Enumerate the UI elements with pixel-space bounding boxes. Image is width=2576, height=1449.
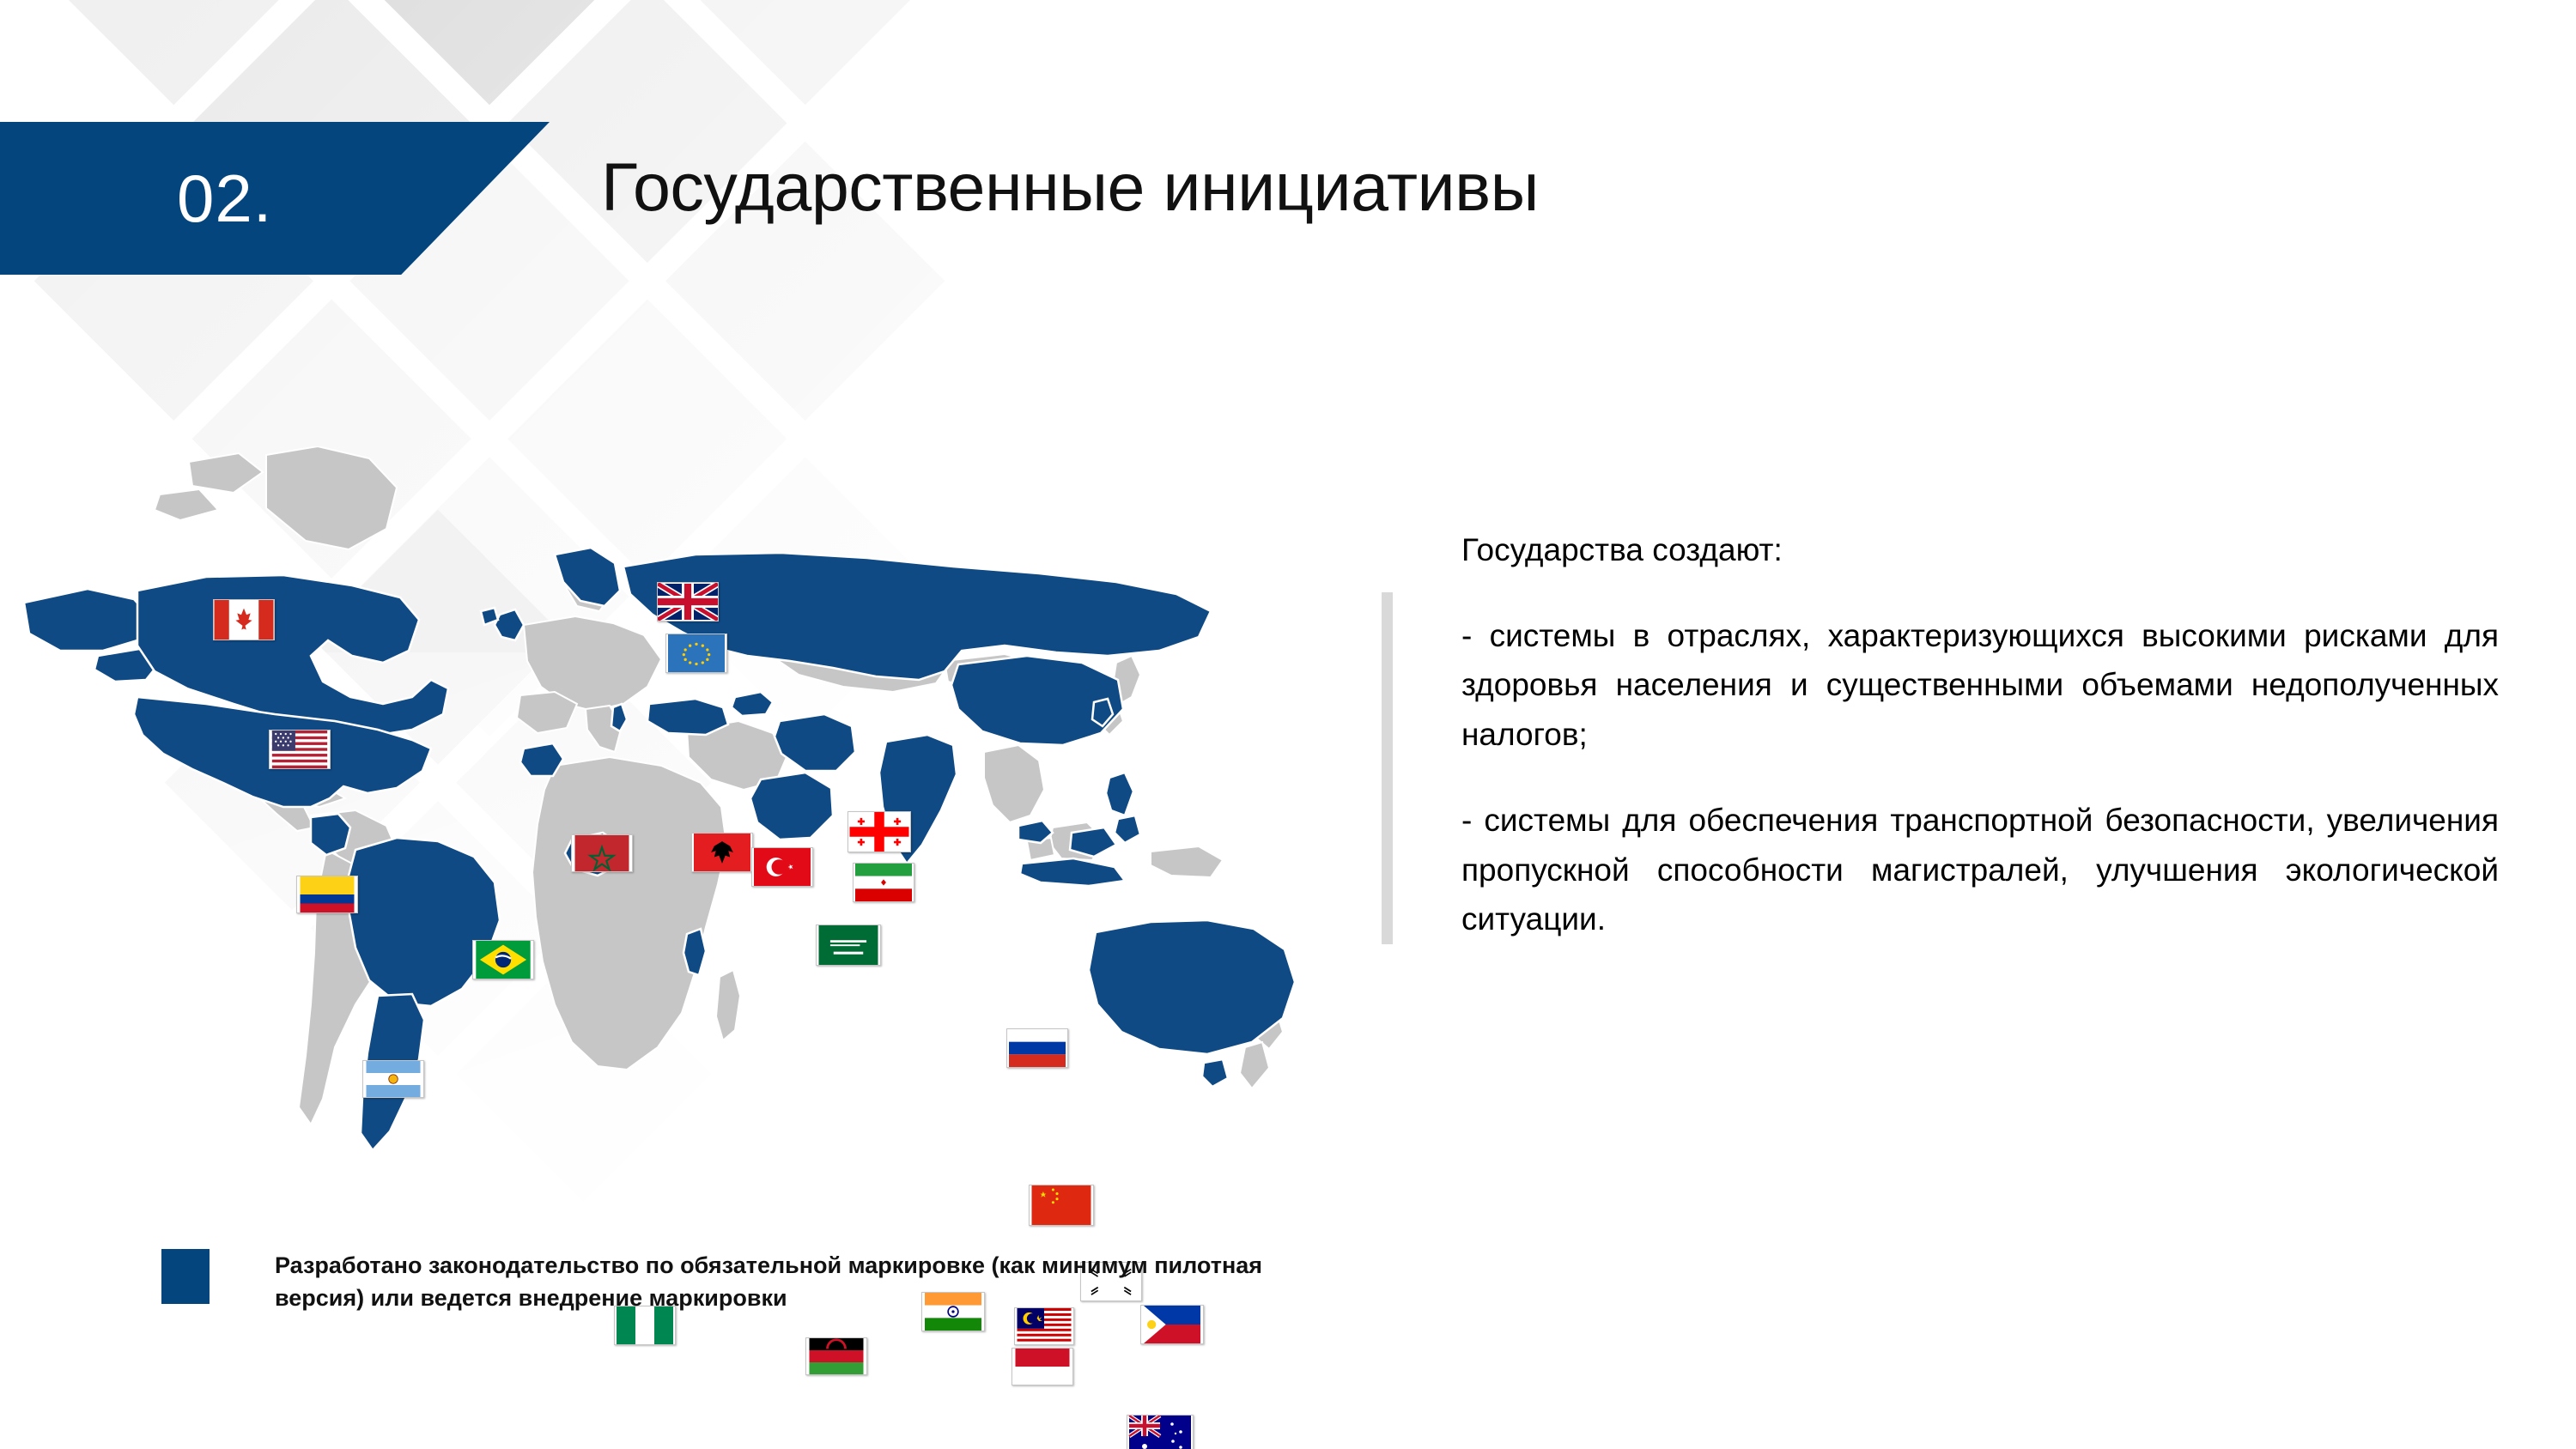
- page-title: Государственные инициативы: [601, 148, 1539, 227]
- section-number-banner: 02.: [0, 122, 550, 275]
- flag-canada-icon: [213, 599, 275, 640]
- flag-iran-icon: [853, 863, 914, 902]
- map-legend: Разработано законодательство по обязател…: [161, 1249, 1340, 1315]
- slide-root: 02. Государственные инициативы: [0, 0, 2576, 1449]
- flag-argentina-icon: [362, 1060, 424, 1098]
- flag-uk-icon: [657, 582, 719, 621]
- flag-turkey-icon: [751, 847, 813, 887]
- flag-australia-icon: [1127, 1415, 1194, 1449]
- body-intro: Государства создают:: [1461, 525, 2499, 575]
- flag-brazil-icon: [472, 940, 534, 979]
- body-bullet-2: - системы для обеспечения транспортной б…: [1461, 796, 2499, 944]
- flag-saudi-arabia-icon: [816, 925, 881, 966]
- body-text-column: Государства создают: - системы в отрасля…: [1461, 525, 2499, 944]
- flag-china-icon: [1029, 1185, 1094, 1226]
- flag-russia-icon: [1006, 1028, 1068, 1068]
- world-map-svg: [9, 446, 1391, 1202]
- flag-eu-icon: [665, 634, 727, 673]
- flag-indonesia-icon: [1012, 1348, 1073, 1385]
- flag-usa-icon: [269, 730, 331, 769]
- legend-label: Разработано законодательство по обязател…: [275, 1249, 1340, 1315]
- flag-albania-icon: [691, 833, 753, 872]
- flag-malawi-icon: [805, 1337, 867, 1375]
- section-number: 02.: [177, 165, 272, 232]
- content-divider: [1382, 592, 1393, 944]
- flag-georgia-icon: [848, 811, 911, 852]
- world-map: [9, 446, 1391, 1202]
- legend-color-swatch: [161, 1249, 210, 1304]
- flag-morocco-icon: [571, 834, 633, 872]
- body-bullet-1: - системы в отраслях, характеризующихся …: [1461, 611, 2499, 760]
- flag-colombia-icon: [296, 876, 358, 913]
